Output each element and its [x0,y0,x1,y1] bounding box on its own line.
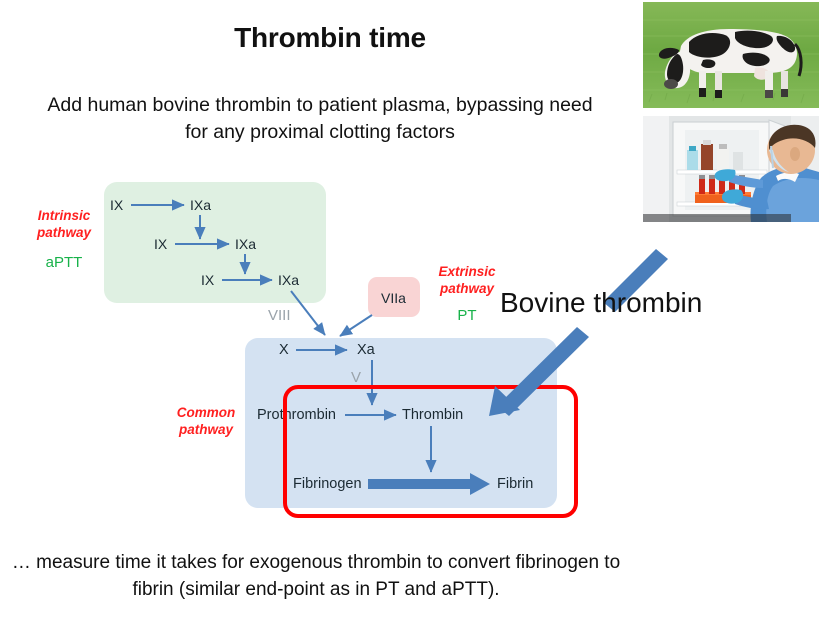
intrinsic-pathway-label: Intrinsic pathway [22,208,106,242]
node-ixa-3: IXa [278,272,299,288]
node-ixa-2: IXa [235,236,256,252]
node-viia: VIIa [381,290,406,306]
cofactor-v: V [351,369,361,386]
node-xa: Xa [357,342,375,358]
cow-grazing-photo [643,2,819,108]
node-ix-3: IX [201,272,214,288]
node-ix-2: IX [154,236,167,252]
node-ixa-1: IXa [190,197,211,213]
slide-subtitle: Add human bovine thrombin to patient pla… [40,92,600,146]
extrinsic-pathway-label: Extrinsic pathway [424,264,510,298]
slide-footer-note: … measure time it takes for exogenous th… [6,550,626,604]
common-pathway-label: Common pathway [160,405,252,439]
node-x: X [279,342,289,358]
aptt-label: aPTT [22,254,106,271]
thrombin-time-highlight-outline [283,385,578,518]
pt-label: PT [424,307,510,324]
cofactor-viii: VIII [268,307,291,324]
page-title: Thrombin time [120,22,540,54]
bovine-thrombin-callout-label: Bovine thrombin [500,287,702,319]
lab-technician-refrigerator-photo [643,116,819,222]
slide-canvas: Thrombin time Add human bovine thrombin … [0,0,820,641]
node-ix-1: IX [110,197,123,213]
